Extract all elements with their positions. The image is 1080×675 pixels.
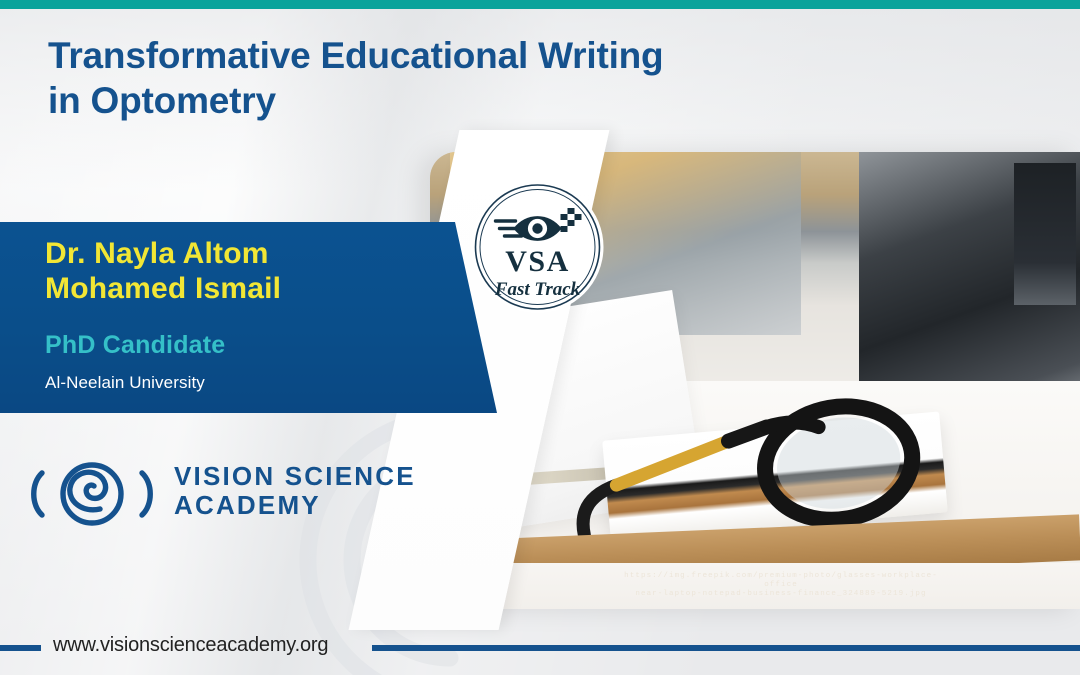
webinar-banner: https://img.freepik.com/premium-photo/gl… [0, 0, 1080, 675]
vsa-spiral-eye-icon [22, 455, 162, 533]
seal-acronym: VSA [505, 245, 570, 278]
brand-name-line-2: ACADEMY [174, 491, 416, 520]
photo-desk-lower-band [430, 563, 1080, 609]
title-line-2: in Optometry [48, 78, 808, 123]
speaker-name: Dr. Nayla Altom Mohamed Ismail [45, 236, 465, 306]
footer-rule-right [372, 645, 1080, 651]
seal-tagline: Fast Track [494, 279, 581, 300]
brand-logo: VISION SCIENCE ACADEMY [22, 455, 422, 533]
brand-name-line-1: VISION SCIENCE [174, 462, 416, 491]
photo-laptop-screen [1014, 163, 1076, 305]
speaker-role: PhD Candidate [45, 331, 225, 360]
speaker-organization: Al-Neelain University [45, 373, 205, 393]
page-title: Transformative Educational Writing in Op… [48, 33, 808, 123]
footer-website-url: www.visionscienceacademy.org [53, 634, 328, 657]
brand-name: VISION SCIENCE ACADEMY [174, 462, 416, 520]
title-line-1: Transformative Educational Writing [48, 33, 808, 78]
speaker-name-line-2: Mohamed Ismail [45, 271, 465, 306]
vsa-fast-track-seal: VSA Fast Track [460, 168, 615, 326]
speaker-name-line-1: Dr. Nayla Altom [45, 236, 465, 271]
top-accent-bar [0, 0, 1080, 9]
footer-rule-left [0, 645, 41, 651]
